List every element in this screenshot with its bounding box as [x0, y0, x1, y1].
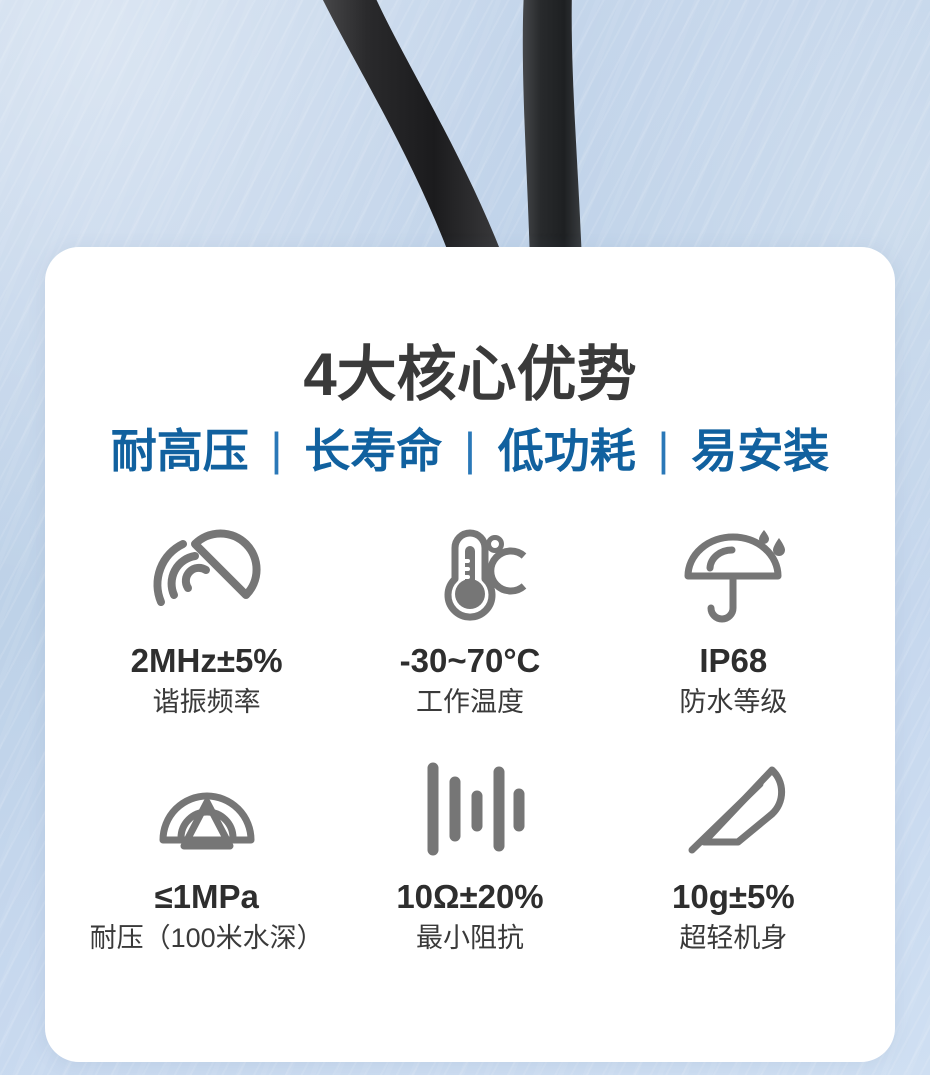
page-title: 4大核心优势 — [45, 247, 895, 405]
subtitle-item-3: 易安装 — [691, 425, 829, 477]
feature-value: ≤1MPa — [155, 880, 259, 915]
sonar-transducer-icon — [142, 514, 272, 632]
product-feature-page: 4大核心优势 耐高压 | 长寿命 | 低功耗 | 易安装 — [0, 0, 930, 1075]
feature-label: 工作温度 — [416, 688, 524, 716]
subtitle-item-0: 耐高压 — [111, 425, 249, 477]
feature-label: 防水等级 — [679, 688, 787, 716]
thermometer-celsius-icon — [405, 514, 535, 632]
feature-item-working-temperature: -30~70°C 工作温度 — [338, 514, 601, 716]
subtitle-benefits: 耐高压 | 长寿命 | 低功耗 | 易安装 — [45, 405, 895, 474]
feature-item-minimum-impedance: 10Ω±20% 最小阻抗 — [338, 750, 601, 952]
subtitle-item-1: 长寿命 — [304, 425, 442, 477]
feature-value: 10g±5% — [672, 880, 795, 915]
cable-right — [523, 0, 582, 262]
umbrella-raindrops-icon — [668, 514, 798, 632]
feature-value: 10Ω±20% — [396, 880, 543, 915]
feature-value: 2MHz±5% — [131, 644, 283, 679]
feature-item-waterproof-rating: IP68 防水等级 — [602, 514, 865, 716]
feather-icon — [668, 750, 798, 868]
waveform-bars-icon — [405, 750, 535, 868]
feature-value: IP68 — [699, 644, 767, 679]
subtitle-item-2: 低功耗 — [498, 425, 636, 477]
feature-label: 超轻机身 — [679, 924, 787, 952]
feature-card: 4大核心优势 耐高压 | 长寿命 | 低功耗 | 易安装 — [45, 247, 895, 1062]
feature-label: 最小阻抗 — [416, 924, 524, 952]
feature-item-resonant-frequency: 2MHz±5% 谐振频率 — [75, 514, 338, 716]
subtitle-separator-1: | — [455, 426, 485, 472]
feature-item-ultra-light-body: 10g±5% 超轻机身 — [602, 750, 865, 952]
feature-label: 谐振频率 — [153, 688, 261, 716]
feature-item-pressure-rating: ≤1MPa 耐压（100米水深） — [75, 750, 338, 952]
pressure-arch-icon — [142, 750, 272, 868]
subtitle-separator-0: | — [262, 426, 292, 472]
feature-grid: 2MHz±5% 谐振频率 — [45, 474, 895, 952]
feature-label: 耐压（100米水深） — [90, 924, 324, 952]
feature-value: -30~70°C — [400, 644, 541, 679]
cable-left — [318, 0, 505, 262]
subtitle-separator-2: | — [649, 426, 679, 472]
